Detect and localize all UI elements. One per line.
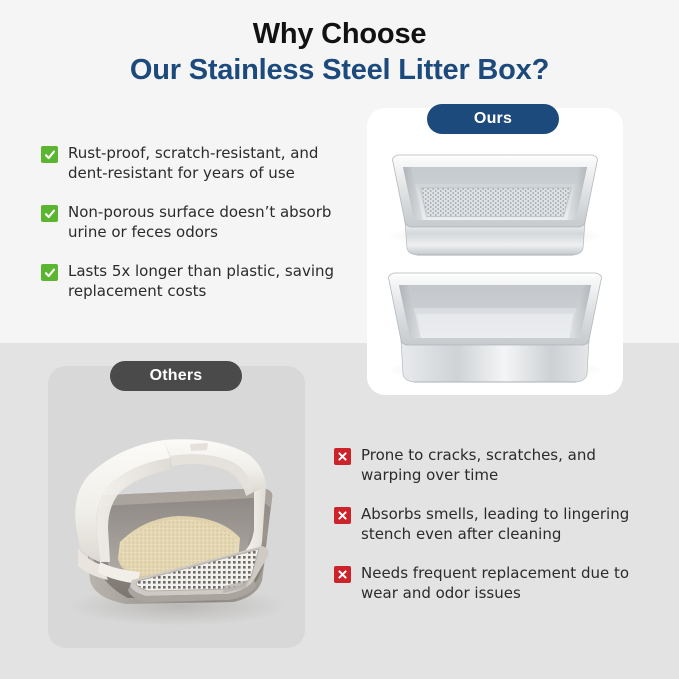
- list-item: Rust-proof, scratch-resistant, and dent-…: [41, 144, 341, 183]
- drawback-text: Needs frequent replacement due to wear a…: [361, 564, 644, 603]
- check-icon: [41, 146, 58, 163]
- title-line-2: Our Stainless Steel Litter Box?: [0, 52, 679, 88]
- check-icon: [41, 205, 58, 222]
- list-item: Needs frequent replacement due to wear a…: [334, 564, 644, 603]
- check-icon: [41, 264, 58, 281]
- list-item: Absorbs smells, leading to lingering ste…: [334, 505, 644, 544]
- ours-badge: Ours: [427, 104, 559, 134]
- list-item: Prone to cracks, scratches, and warping …: [334, 446, 644, 485]
- benefit-text: Non-porous surface doesn’t absorb urine …: [68, 203, 341, 242]
- plastic-litter-box-image: [48, 366, 305, 648]
- drawback-text: Prone to cracks, scratches, and warping …: [361, 446, 644, 485]
- drawbacks-list: Prone to cracks, scratches, and warping …: [334, 446, 644, 603]
- x-icon: [334, 566, 351, 583]
- benefits-list: Rust-proof, scratch-resistant, and dent-…: [41, 144, 341, 301]
- x-icon: [334, 448, 351, 465]
- drawback-text: Absorbs smells, leading to lingering ste…: [361, 505, 644, 544]
- others-badge: Others: [110, 361, 242, 391]
- list-item: Lasts 5x longer than plastic, saving rep…: [41, 262, 341, 301]
- list-item: Non-porous surface doesn’t absorb urine …: [41, 203, 341, 242]
- stainless-steel-trays-image: [367, 108, 623, 395]
- others-product-card: [48, 366, 305, 648]
- others-badge-label: Others: [150, 367, 203, 385]
- ours-product-card: [367, 108, 623, 395]
- page-title: Why Choose Our Stainless Steel Litter Bo…: [0, 16, 679, 88]
- benefit-text: Rust-proof, scratch-resistant, and dent-…: [68, 144, 341, 183]
- benefit-text: Lasts 5x longer than plastic, saving rep…: [68, 262, 341, 301]
- x-icon: [334, 507, 351, 524]
- title-line-1: Why Choose: [0, 16, 679, 52]
- ours-badge-label: Ours: [474, 110, 512, 128]
